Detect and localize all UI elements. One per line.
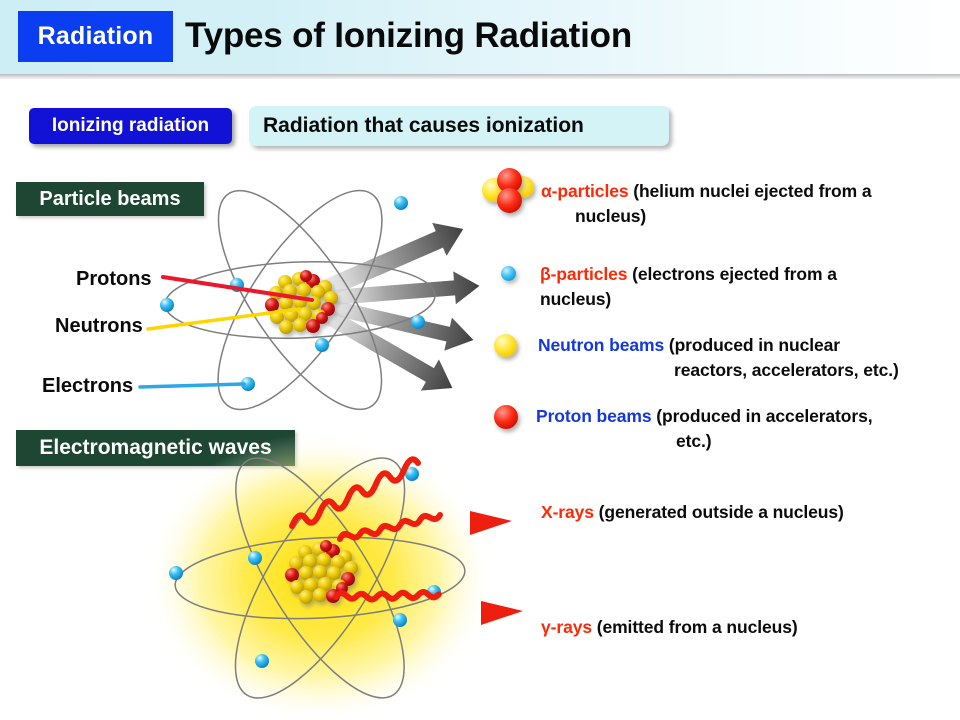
slide-root: Radiation Types of Ionizing Radiation Io… <box>0 0 960 720</box>
em-atom-glow <box>145 433 495 720</box>
neutron-beams-desc-line1: (produced in nuclear <box>664 335 840 355</box>
radiation-entry-gamma-rays: γ-rays (emitted from a nucleus) <box>541 615 941 640</box>
ionizing-radiation-tag: Ionizing radiation <box>29 108 232 144</box>
section-label-particle-beams: Particle beams <box>16 182 204 216</box>
page-title: Types of Ionizing Radiation <box>185 10 632 62</box>
neutron-beams-key: Neutron beams <box>538 335 664 355</box>
section-label-particle-beams-text: Particle beams <box>39 188 180 211</box>
ionizing-radiation-label: Ionizing radiation <box>52 115 209 137</box>
gamma-rays-key: γ-rays <box>541 617 592 637</box>
radiation-entry-beta-particles: β-particles (electrons ejected from a nu… <box>540 262 940 312</box>
alpha-particles-desc-line1: (helium nuclei ejected from a <box>628 181 871 201</box>
atom-leader-lines <box>140 277 312 387</box>
radiation-entry-x-rays: X-rays (generated outside a nucleus) <box>541 500 941 525</box>
top-atom-nucleus <box>265 270 338 334</box>
x-rays-key: X-rays <box>541 502 594 522</box>
alpha-cluster-icon <box>482 168 538 216</box>
top-atom-electrons <box>160 196 425 391</box>
top-atom-orbits <box>164 167 436 433</box>
yellow-neutron-sphere-icon <box>494 334 517 357</box>
blue-electron-sphere-icon <box>501 266 516 281</box>
proton-beams-desc-line2: etc.) <box>536 429 951 454</box>
label-protons: Protons <box>76 268 152 291</box>
lower-atom-nucleus <box>285 540 358 604</box>
label-electrons: Electrons <box>42 375 133 398</box>
radiation-entry-proton-beams: Proton beams (produced in accelerators, … <box>536 404 951 454</box>
particle-beam-arrows <box>291 213 481 404</box>
red-proton-sphere-icon <box>494 405 518 429</box>
ionizing-radiation-definition-text: Radiation that causes ionization <box>263 114 584 138</box>
header-category-label: Radiation <box>38 22 154 51</box>
x-ray-wave-arrow-icon <box>292 459 512 539</box>
label-neutrons: Neutrons <box>55 315 143 338</box>
section-label-electromagnetic-waves-text: Electromagnetic waves <box>39 436 271 460</box>
gamma-ray-wave-arrow-icon <box>336 574 523 625</box>
proton-beams-key: Proton beams <box>536 406 652 426</box>
x-rays-desc-line1: (generated outside a nucleus) <box>594 502 844 522</box>
lower-atom-electrons <box>169 467 441 668</box>
lower-atom-orbits <box>173 434 467 720</box>
radiation-entry-neutron-beams: Neutron beams (produced in nuclear react… <box>538 333 948 383</box>
header-category-tag: Radiation <box>18 11 173 62</box>
gamma-rays-desc-line1: (emitted from a nucleus) <box>592 617 798 637</box>
header-divider <box>0 74 960 79</box>
neutron-beams-desc-line2: reactors, accelerators, etc.) <box>538 358 948 383</box>
ionizing-radiation-definition-box: Radiation that causes ionization <box>249 106 669 146</box>
beta-particles-key: β-particles <box>540 264 627 284</box>
alpha-particles-desc-line2: nucleus) <box>541 204 941 229</box>
proton-beams-desc-line1: (produced in accelerators, <box>652 406 873 426</box>
beta-particles-desc-line2: nucleus) <box>540 287 940 312</box>
beta-particles-desc-line1: (electrons ejected from a <box>627 264 836 284</box>
alpha-particles-key: α-particles <box>541 181 628 201</box>
radiation-entry-alpha-particles: α-particles (helium nuclei ejected from … <box>541 179 941 229</box>
section-label-electromagnetic-waves: Electromagnetic waves <box>16 430 295 466</box>
